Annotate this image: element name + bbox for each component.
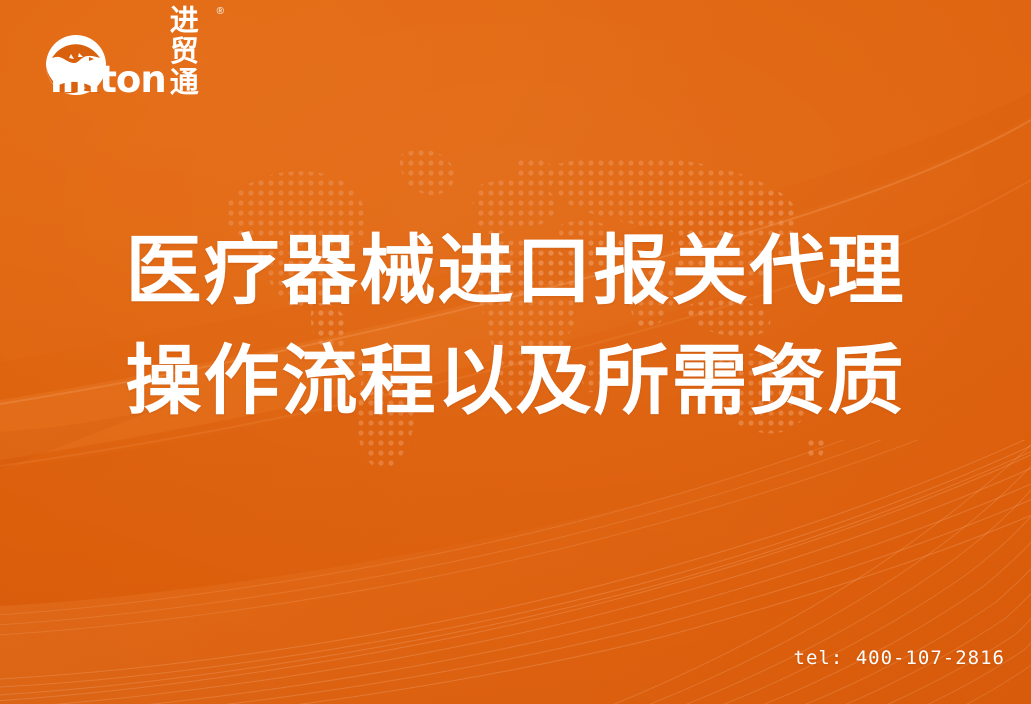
headline-line-2: 操作流程以及所需资质 [0,326,1031,436]
poster-banner: imton 进贸通 ® 医疗器械进口报关代理 操作流程以及所需资质 tel: 4… [0,0,1031,704]
logo-chinese-name: 进贸通 [170,5,216,98]
page-title: 医疗器械进口报关代理 操作流程以及所需资质 [0,216,1031,436]
contact-telephone: tel: 400-107-2816 [794,647,1005,669]
registered-trademark-icon: ® [217,7,224,17]
logo-wordmark-group: imton 进贸通 ® [50,5,224,98]
brand-logo[interactable]: imton 进贸通 ® [44,30,224,98]
headline-line-1: 医疗器械进口报关代理 [0,216,1031,326]
logo-wordmark: imton [50,61,166,98]
